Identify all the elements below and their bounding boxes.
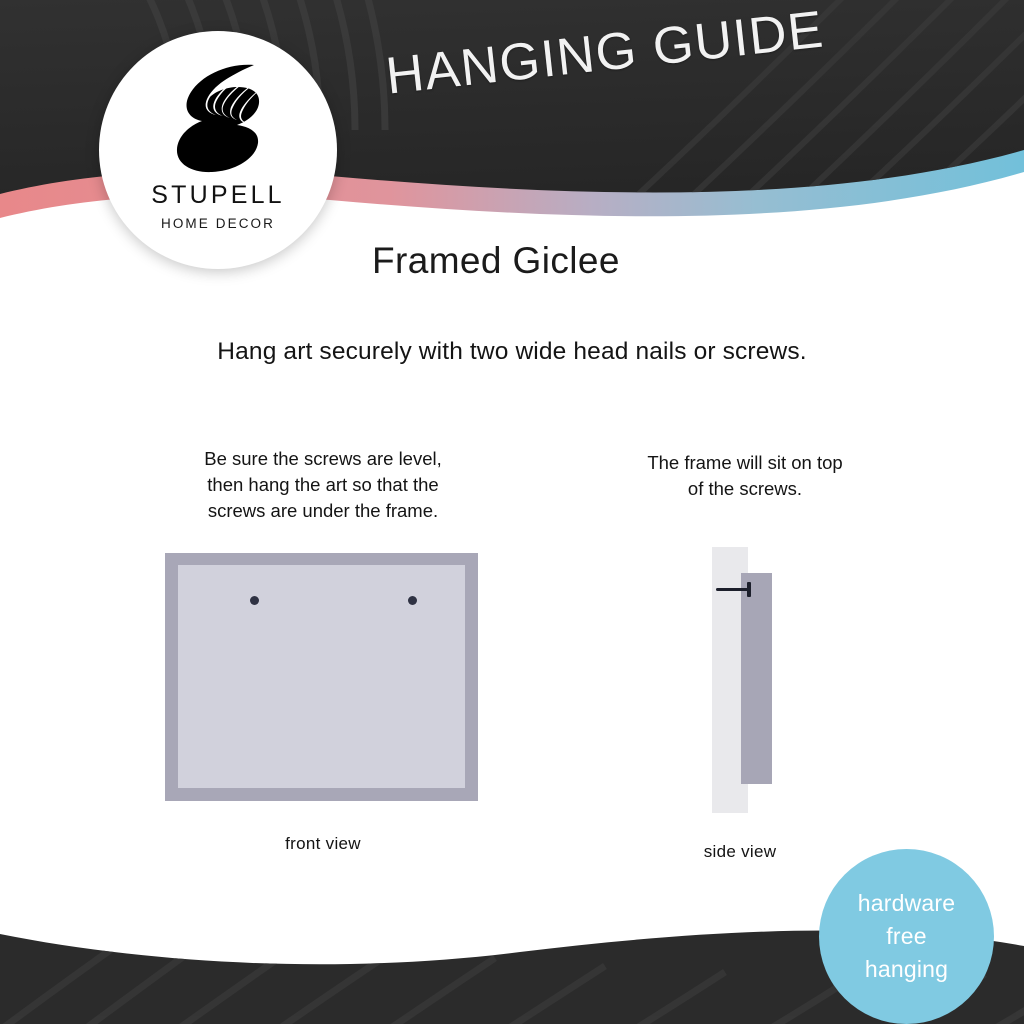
side-view-nail-shaft-icon (716, 588, 751, 591)
side-view-nail-head-icon (747, 582, 751, 597)
side-view-label: side view (655, 842, 825, 862)
front-view-caption: Be sure the screws are level, then hang … (140, 446, 506, 524)
logo-wordmark: STUPELL (151, 183, 285, 208)
side-view-caption-line-2: of the screws. (600, 476, 890, 502)
stupell-logo-badge: STUPELL HOME DECOR (99, 31, 337, 269)
hanging-guide-page: STUPELL HOME DECOR HANGING GUIDE Framed … (0, 0, 1024, 1024)
side-view-frame (741, 573, 772, 784)
lead-instruction: Hang art securely with two wide head nai… (0, 338, 1024, 366)
front-view-label: front view (170, 834, 476, 854)
front-view-caption-line-1: Be sure the screws are level, (140, 446, 506, 472)
screw-dot-left (250, 596, 259, 605)
side-view-caption-line-1: The frame will sit on top (600, 450, 890, 476)
front-view-caption-line-2: then hang the art so that the (140, 472, 506, 498)
logo-tagline: HOME DECOR (161, 217, 275, 231)
product-type-label: Framed Giclee (372, 240, 620, 282)
stupell-swan-s-icon (158, 59, 278, 177)
page-title: HANGING GUIDE (383, 0, 827, 107)
front-view-caption-line-3: screws are under the frame. (140, 498, 506, 524)
badge-line-3: hanging (858, 953, 956, 986)
hardware-free-hanging-badge: hardware free hanging (819, 849, 994, 1024)
front-view-frame-interior (178, 565, 465, 788)
front-view-frame-diagram (165, 553, 478, 801)
side-view-caption: The frame will sit on top of the screws. (600, 450, 890, 502)
badge-line-2: free (858, 920, 956, 953)
hardware-free-hanging-text: hardware free hanging (858, 887, 956, 986)
badge-line-1: hardware (858, 887, 956, 920)
screw-dot-right (408, 596, 417, 605)
